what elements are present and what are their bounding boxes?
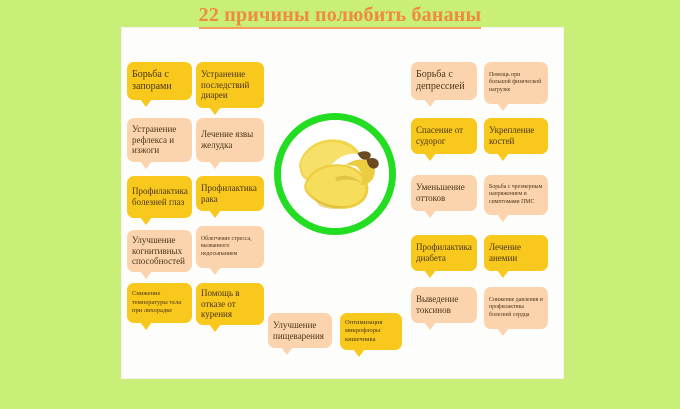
reason-bubble: Устранение последствий диареи	[196, 62, 264, 108]
reason-text: Борьба с депрессией	[416, 69, 472, 93]
bubble-tail	[497, 214, 509, 222]
bubble-tail	[424, 270, 436, 278]
reason-text: Лечение анемии	[489, 242, 543, 263]
reason-bubble: Помощь в отказе от курения	[196, 283, 264, 325]
bubble-tail	[140, 161, 152, 169]
reason-text: Выведение токсинов	[416, 294, 472, 315]
reason-text: Профилактика диабета	[416, 242, 472, 263]
bubble-tail	[497, 270, 509, 278]
page-title: 22 причины полюбить бананы	[0, 4, 680, 27]
reason-text: Профилактика рака	[201, 183, 259, 204]
reason-text: Улучшение пищеварения	[273, 320, 327, 341]
reason-bubble: Выведение токсинов	[411, 287, 477, 323]
reason-text: Помощь при большой физической нагрузке	[489, 72, 543, 95]
reason-bubble: Снижение давления и профилактика болезне…	[484, 287, 548, 329]
bubble-tail	[209, 210, 221, 218]
reason-text: Спасение от судорог	[416, 125, 472, 146]
reason-text: Устранение рефлекса и изжоги	[132, 124, 187, 156]
reason-bubble: Устранение рефлекса и изжоги	[127, 118, 192, 162]
reason-text: Снижение давления и профилактика болезне…	[489, 297, 543, 320]
bubble-tail	[497, 328, 509, 336]
bubble-tail	[353, 349, 365, 357]
reason-bubble: Оптимизация микрофлоры кишечника	[340, 313, 402, 350]
bubble-tail	[209, 107, 221, 115]
reason-bubble: Лечение анемии	[484, 235, 548, 271]
reason-bubble: Улучшение когнитивных способностей	[127, 230, 192, 272]
bubble-tail	[281, 347, 293, 355]
bubble-tail	[424, 99, 436, 107]
bubble-tail	[140, 217, 152, 225]
bubble-tail	[424, 322, 436, 330]
reason-bubble: Снижение температуры тела при лихорадке	[127, 283, 192, 323]
reason-bubble: Помощь при большой физической нагрузке	[484, 62, 548, 104]
reason-bubble: Борьба с депрессией	[411, 62, 477, 100]
bubble-tail	[497, 103, 509, 111]
infographic-root: 22 причины полюбить бананы Борьба с запо…	[0, 0, 680, 409]
reason-bubble: Укрепление костей	[484, 118, 548, 154]
reason-text: Борьба с запорами	[132, 69, 187, 93]
bubble-tail	[140, 271, 152, 279]
reason-text: Улучшение когнитивных способностей	[132, 235, 187, 267]
reason-text: Оптимизация микрофлоры кишечника	[345, 319, 397, 344]
reason-bubble: Улучшение пищеварения	[268, 313, 332, 348]
bubble-tail	[424, 153, 436, 161]
reason-bubble: Облегчение стресса, вызванного недосыпан…	[196, 226, 264, 268]
banana-bunch-photo	[281, 120, 389, 228]
bubble-tail	[497, 153, 509, 161]
reason-text: Укрепление костей	[489, 125, 543, 146]
reason-bubble: Уменьшение оттоков	[411, 175, 477, 211]
reason-bubble: Лечение язвы желудка	[196, 118, 264, 162]
reason-text: Профилактика болезней глаз	[132, 186, 187, 207]
reason-text: Устранение последствий диареи	[201, 69, 259, 101]
bubble-tail	[424, 210, 436, 218]
reason-bubble: Борьба с запорами	[127, 62, 192, 100]
reason-text: Снижение температуры тела при лихорадке	[132, 290, 187, 315]
reason-text: Облегчение стресса, вызванного недосыпан…	[201, 236, 259, 259]
reason-bubble: Профилактика диабета	[411, 235, 477, 271]
reason-bubble: Борьба с чрезмерным напряжением и симпто…	[484, 175, 548, 215]
reason-text: Уменьшение оттоков	[416, 182, 472, 203]
reason-text: Помощь в отказе от курения	[201, 288, 259, 320]
bubble-tail	[209, 161, 221, 169]
reason-text: Лечение язвы желудка	[201, 129, 259, 150]
reason-bubble: Профилактика болезней глаз	[127, 176, 192, 218]
reason-bubble: Спасение от судорог	[411, 118, 477, 154]
bubble-tail	[209, 267, 221, 275]
bubble-tail	[140, 99, 152, 107]
bubble-tail	[209, 324, 221, 332]
banana-circle	[274, 113, 396, 235]
reason-bubble: Профилактика рака	[196, 176, 264, 211]
reason-text: Борьба с чрезмерным напряжением и симпто…	[489, 184, 543, 207]
page-title-text: 22 причины полюбить бананы	[199, 4, 482, 29]
bubble-tail	[140, 322, 152, 330]
